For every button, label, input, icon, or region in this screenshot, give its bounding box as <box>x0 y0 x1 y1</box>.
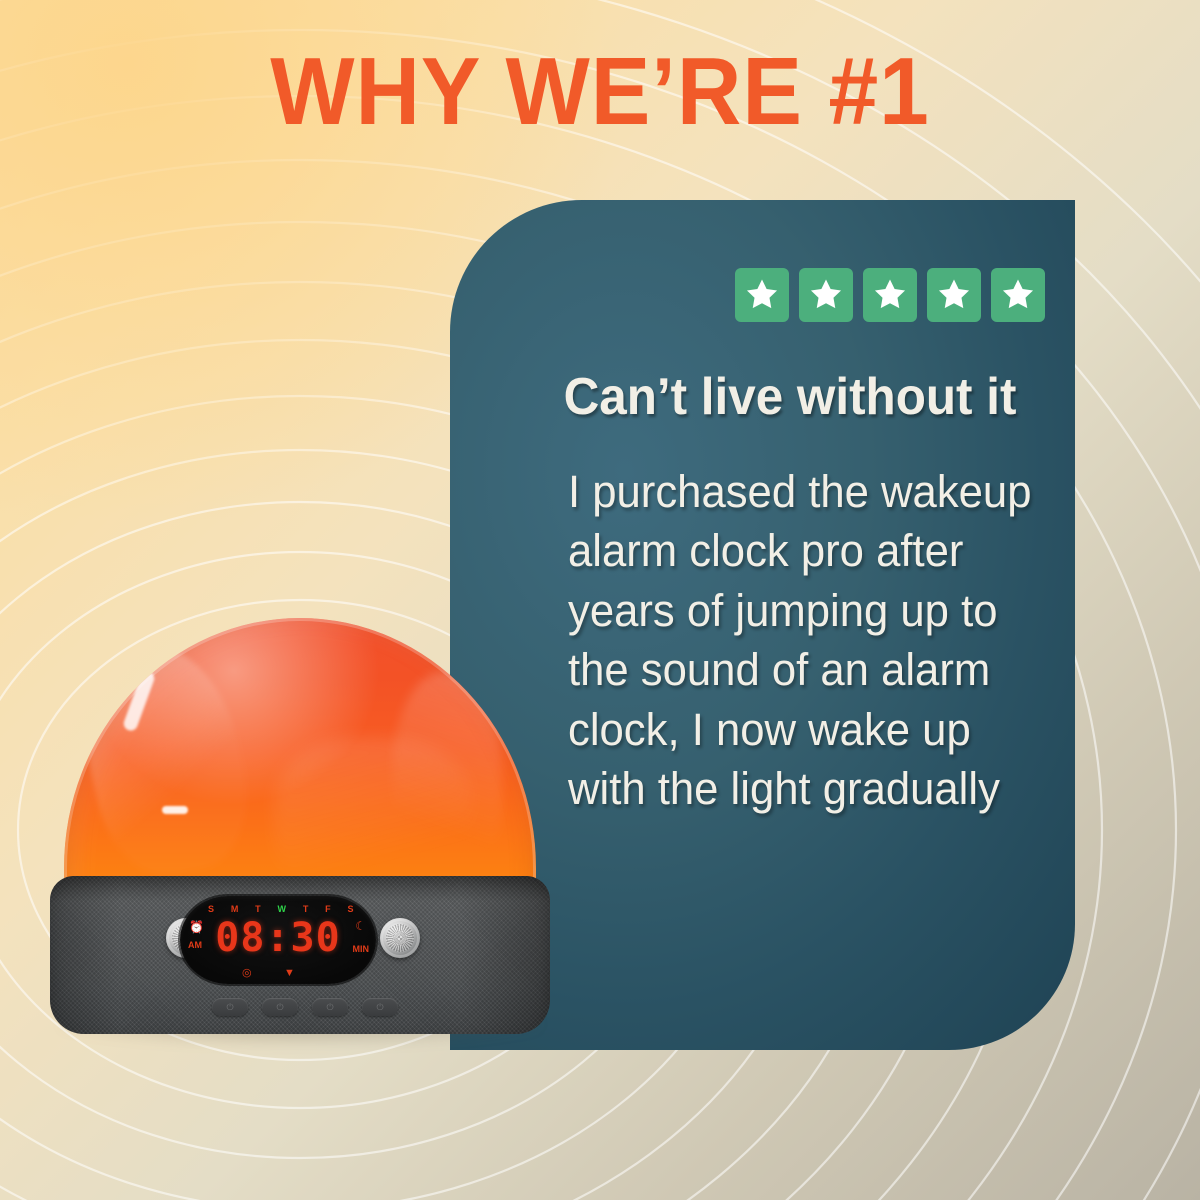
star-icon <box>935 276 973 314</box>
star-4 <box>927 268 981 322</box>
day-monday: M <box>231 904 239 914</box>
day-indicators: S M T W T F S <box>208 904 354 914</box>
day-sunday: S <box>208 904 215 914</box>
day-tuesday: T <box>255 904 261 914</box>
button-1[interactable]: ⏻ <box>212 998 248 1016</box>
star-2 <box>799 268 853 322</box>
product-image: S M T W T F S ⏰ AM 08:30 ☾ MIN ◎ ▼ ⏻ ⏻ ⏻… <box>50 618 550 1038</box>
review-title: Can’t live without it <box>534 370 1047 425</box>
day-friday: F <box>325 904 331 914</box>
button-3[interactable]: ⏻ <box>312 998 348 1016</box>
control-buttons: ⏻ ⏻ ⏻ ⏻ <box>212 998 398 1016</box>
base-shade-right <box>460 876 550 1034</box>
led-display: S M T W T F S ⏰ AM 08:30 ☾ MIN ◎ ▼ <box>180 896 376 984</box>
minutes-label: MIN <box>353 944 370 954</box>
base-shade-left <box>50 876 120 1034</box>
day-wednesday: W <box>278 904 287 914</box>
clock-time: 08:30 <box>180 915 376 961</box>
page-title: WHY WE’RE #1 <box>42 44 1158 140</box>
moon-icon: ☾ <box>355 920 366 932</box>
star-rating <box>735 268 1045 322</box>
star-1 <box>735 268 789 322</box>
day-saturday: S <box>347 904 354 914</box>
star-icon <box>999 276 1037 314</box>
promo-graphic: WHY WE’RE #1 <box>0 0 1200 1200</box>
star-icon <box>743 276 781 314</box>
day-thursday: T <box>303 904 309 914</box>
star-3 <box>863 268 917 322</box>
button-4[interactable]: ⏻ <box>362 998 398 1016</box>
wifi-icon: ▼ <box>284 968 295 979</box>
review-body: I purchased the wakeup alarm clock pro a… <box>568 462 1053 818</box>
button-2[interactable]: ⏻ <box>262 998 298 1016</box>
star-icon <box>871 276 909 314</box>
right-knob[interactable] <box>380 918 420 958</box>
star-icon <box>807 276 845 314</box>
star-5 <box>991 268 1045 322</box>
snooze-icon: ◎ <box>242 968 252 979</box>
